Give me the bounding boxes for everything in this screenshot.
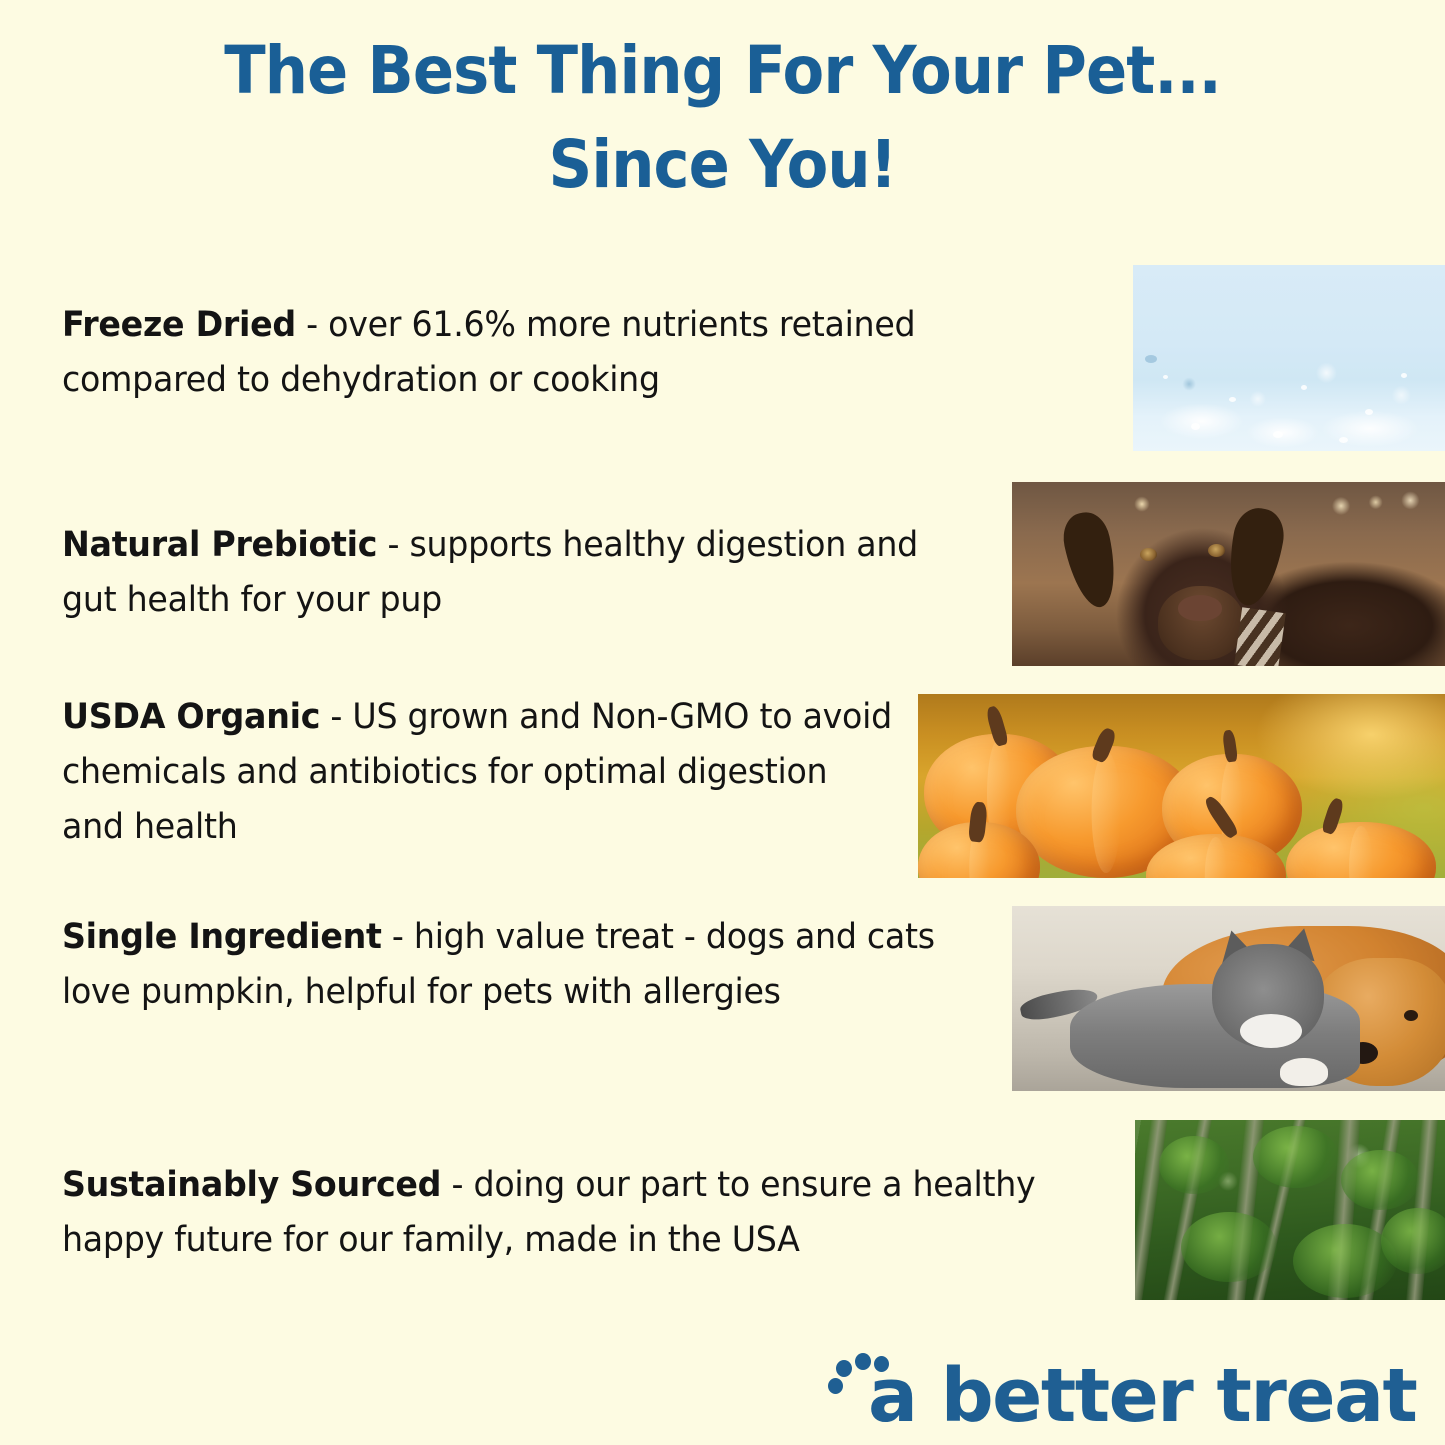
brand-logo-text: a better treat <box>868 1350 1416 1442</box>
ice-crystals-photo <box>1133 265 1445 451</box>
feature-title: Natural Prebiotic <box>62 525 377 565</box>
feature-title: Freeze Dried <box>62 305 296 345</box>
cat-and-dog-photo <box>1012 906 1445 1091</box>
feature-separator: - <box>296 305 328 345</box>
feature-freeze-dried: Freeze Dried - over 61.6% more nutrients… <box>62 298 1012 408</box>
feature-separator: - <box>320 697 352 737</box>
headline-line-2: Since You! <box>58 118 1387 212</box>
chocolate-labrador-photo <box>1012 482 1445 666</box>
brand-logo: a better treat <box>826 1352 1426 1444</box>
headline-line-1: The Best Thing For Your Pet... <box>224 32 1221 109</box>
feature-single-ingredient: Single Ingredient - high value treat - d… <box>62 910 955 1020</box>
feature-title: Single Ingredient <box>62 917 382 957</box>
feature-sustainably-sourced: Sustainably Sourced - doing our part to … <box>62 1158 1060 1268</box>
feature-separator: - <box>441 1165 473 1205</box>
pumpkins-photo <box>918 694 1445 878</box>
feature-separator: - <box>382 917 414 957</box>
infographic-page: The Best Thing For Your Pet... Since You… <box>0 0 1445 1445</box>
feature-title: USDA Organic <box>62 697 320 737</box>
feature-usda-organic: USDA Organic - US grown and Non-GMO to a… <box>62 690 898 855</box>
forest-photo <box>1135 1120 1445 1300</box>
feature-separator: - <box>377 525 409 565</box>
page-title: The Best Thing For Your Pet... Since You… <box>58 24 1387 212</box>
feature-title: Sustainably Sourced <box>62 1165 441 1205</box>
feature-natural-prebiotic: Natural Prebiotic - supports healthy dig… <box>62 518 946 628</box>
